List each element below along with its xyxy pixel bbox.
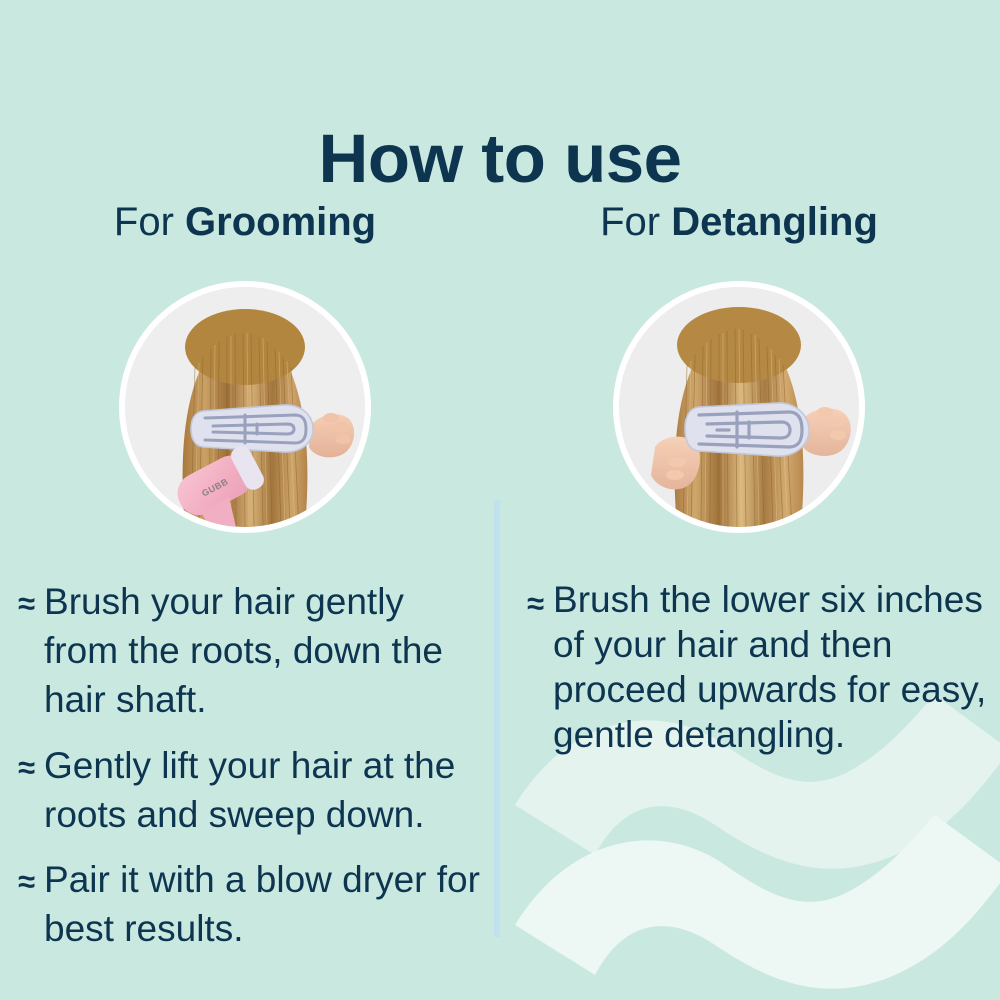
bullet-list-grooming: ≈ Brush your hair gently from the roots,… xyxy=(18,577,486,953)
list-item-text: Pair it with a blow dryer for best resul… xyxy=(44,855,486,953)
photo-wrap-detangling xyxy=(519,287,959,527)
list-item-text: Gently lift your hair at the roots and s… xyxy=(44,741,486,839)
column-detangling: For Detangling xyxy=(497,200,1000,1000)
list-item: ≈ Gently lift your hair at the roots and… xyxy=(18,741,486,839)
heading-emphasis: Grooming xyxy=(185,200,376,244)
list-item: ≈ Brush the lower six inches of your hai… xyxy=(527,577,997,758)
list-item-text: Brush your hair gently from the roots, d… xyxy=(44,577,486,725)
list-item-text: Brush the lower six inches of your hair … xyxy=(553,577,997,758)
bullet-list-detangling: ≈ Brush the lower six inches of your hai… xyxy=(527,577,997,758)
photo-wrap-grooming: GUBB xyxy=(10,287,480,527)
detangling-photo xyxy=(619,287,859,527)
page-title: How to use xyxy=(0,124,1000,193)
column-heading-grooming: For Grooming xyxy=(10,200,480,244)
list-item: ≈ Brush your hair gently from the roots,… xyxy=(18,577,486,725)
column-heading-detangling: For Detangling xyxy=(519,200,959,244)
column-grooming: For Grooming xyxy=(0,200,497,1000)
grooming-photo: GUBB xyxy=(125,287,365,527)
approx-bullet-icon: ≈ xyxy=(527,577,544,619)
heading-prefix: For xyxy=(114,200,185,244)
approx-bullet-icon: ≈ xyxy=(18,741,35,783)
approx-bullet-icon: ≈ xyxy=(18,577,35,619)
columns-container: For Grooming xyxy=(0,200,1000,1000)
approx-bullet-icon: ≈ xyxy=(18,855,35,897)
heading-prefix: For xyxy=(600,200,671,244)
heading-emphasis: Detangling xyxy=(671,200,878,244)
list-item: ≈ Pair it with a blow dryer for best res… xyxy=(18,855,486,953)
how-to-use-infographic: How to use For Grooming xyxy=(0,0,1000,1000)
